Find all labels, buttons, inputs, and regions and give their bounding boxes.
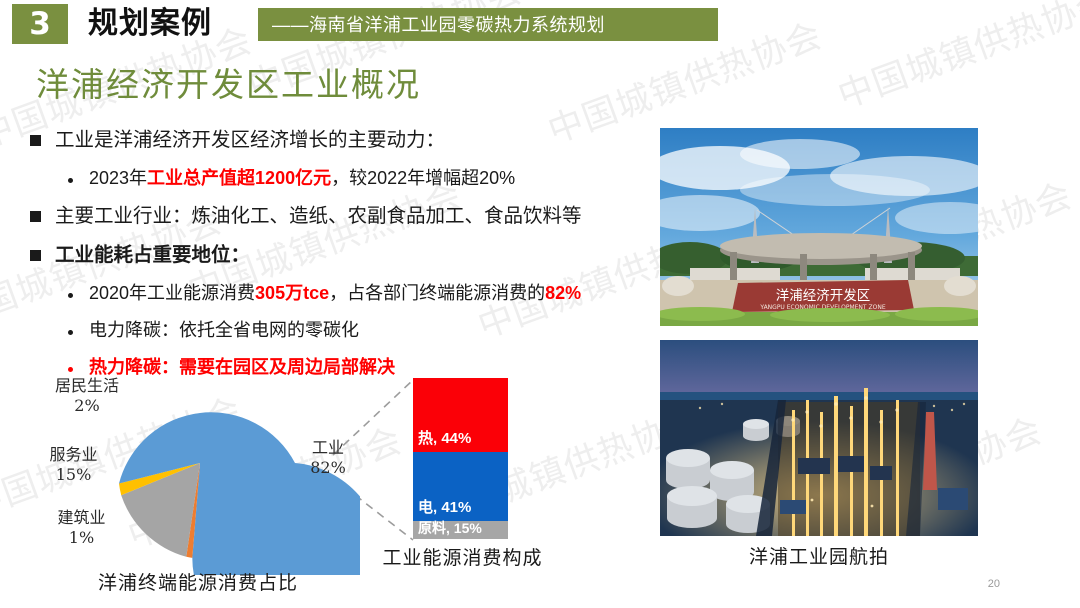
pie-label-industry-name: 工业	[312, 438, 344, 457]
bullet-text: 2020年工业能源消费305万tce，占各部门终端能源消费的82%	[89, 280, 581, 306]
dot-bullet-icon	[68, 330, 73, 335]
bullet-text-post: ，较2022年增幅超20%	[331, 168, 515, 188]
bar-segment-heat: 热, 44%	[413, 378, 508, 452]
bullet-item: 电力降碳：依托全省电网的零碳化	[30, 317, 650, 343]
photo-yangpu-aerial-art	[660, 340, 978, 536]
bullet-text: 主要工业行业：炼油化工、造纸、农副食品加工、食品饮料等	[55, 202, 582, 230]
bar-label-feedstock: 原料, 15%	[413, 518, 482, 539]
pie-label-resident-pct: 2%	[74, 396, 99, 415]
bar-segment-feedstock: 原料, 15%	[413, 521, 508, 539]
page-number: 20	[988, 578, 1000, 590]
bullet-text-highlight2: 82%	[545, 283, 581, 303]
photo-yangpu-gate: 洋浦经济开发区 YANGPU ECONOMIC DEVELOPMENT ZONE	[660, 128, 978, 326]
dot-bullet-icon	[68, 293, 73, 298]
bullet-text: 工业是洋浦经济开发区经济增长的主要动力：	[55, 126, 445, 154]
slide-canvas: 中国城镇供热协会 中国城镇供热协会 中国城镇供热协会 中国城镇供热协会 中国城镇…	[0, 0, 1080, 608]
pie-label-service-pct: 15%	[56, 465, 92, 484]
bullet-text-pre: 2020年工业能源消费	[89, 283, 255, 303]
square-bullet-icon	[30, 250, 41, 261]
pie-label-industry-pct: 82%	[310, 458, 346, 477]
pie-label-construction: 建筑业 1%	[34, 508, 129, 548]
stacked-bar-chart: 热, 44% 电, 41% 原料, 15% 工业能源消费构成	[360, 360, 610, 600]
pie-label-service-name: 服务业	[49, 445, 97, 464]
bullet-text: 工业能耗占重要地位：	[55, 241, 250, 269]
bullet-item: 2023年工业总产值超1200亿元，较2022年增幅超20%	[30, 165, 650, 191]
slide-header: 3 规划案例 ——海南省洋浦工业园零碳热力系统规划	[0, 0, 1080, 48]
square-bullet-icon	[30, 135, 41, 146]
bullet-text: 电力降碳：依托全省电网的零碳化	[89, 317, 359, 343]
pie-slice-industry	[192, 463, 360, 575]
bullet-item: 工业是洋浦经济开发区经济增长的主要动力：	[30, 126, 650, 154]
bullet-item: 主要工业行业：炼油化工、造纸、农副食品加工、食品饮料等	[30, 202, 650, 230]
bullet-text-mid: ，占各部门终端能源消费的	[329, 283, 545, 303]
photo-yangpu-aerial	[660, 340, 978, 536]
pie-label-construction-pct: 1%	[69, 528, 94, 547]
bullet-text-highlight: 305万tce	[255, 283, 329, 303]
section-title: 规划案例	[88, 6, 212, 42]
photo-yangpu-gate-art: 洋浦经济开发区 YANGPU ECONOMIC DEVELOPMENT ZONE	[660, 128, 978, 326]
subtitle-text: ——海南省洋浦工业园零碳热力系统规划	[272, 11, 605, 39]
pie-label-construction-name: 建筑业	[57, 508, 105, 527]
pie-label-service: 服务业 15%	[26, 445, 121, 485]
bullet-item: 工业能耗占重要地位：	[30, 241, 650, 269]
bullet-item: 2020年工业能源消费305万tce，占各部门终端能源消费的82%	[30, 280, 650, 306]
pie-chart-caption: 洋浦终端能源消费占比	[58, 568, 338, 595]
pie-chart: 居民生活 2% 服务业 15% 建筑业 1% 工业 82% 洋浦终端能源消费占比	[30, 360, 360, 600]
bar-chart-caption: 工业能源消费构成	[360, 543, 565, 570]
bar-segment-power: 电, 41%	[413, 452, 508, 521]
bullet-list: 工业是洋浦经济开发区经济增长的主要动力： 2023年工业总产值超1200亿元，较…	[30, 126, 650, 391]
square-bullet-icon	[30, 211, 41, 222]
bullet-text-highlight: 工业总产值超1200亿元	[147, 168, 331, 188]
pie-label-industry: 工业 82%	[298, 438, 358, 478]
pie-label-resident-name: 居民生活	[55, 376, 119, 395]
bar-label-heat: 热, 44%	[413, 427, 471, 452]
bullet-text: 2023年工业总产值超1200亿元，较2022年增幅超20%	[89, 165, 515, 191]
pie-label-resident: 居民生活 2%	[32, 376, 142, 416]
bullet-text-pre: 2023年	[89, 168, 147, 188]
gate-sign-cn: 洋浦经济开发区	[776, 288, 871, 304]
photo-aerial-caption: 洋浦工业园航拍	[660, 542, 978, 569]
dot-bullet-icon	[68, 178, 73, 183]
page-title: 洋浦经济开发区工业概况	[36, 58, 421, 106]
section-number-badge: 3	[12, 4, 68, 44]
